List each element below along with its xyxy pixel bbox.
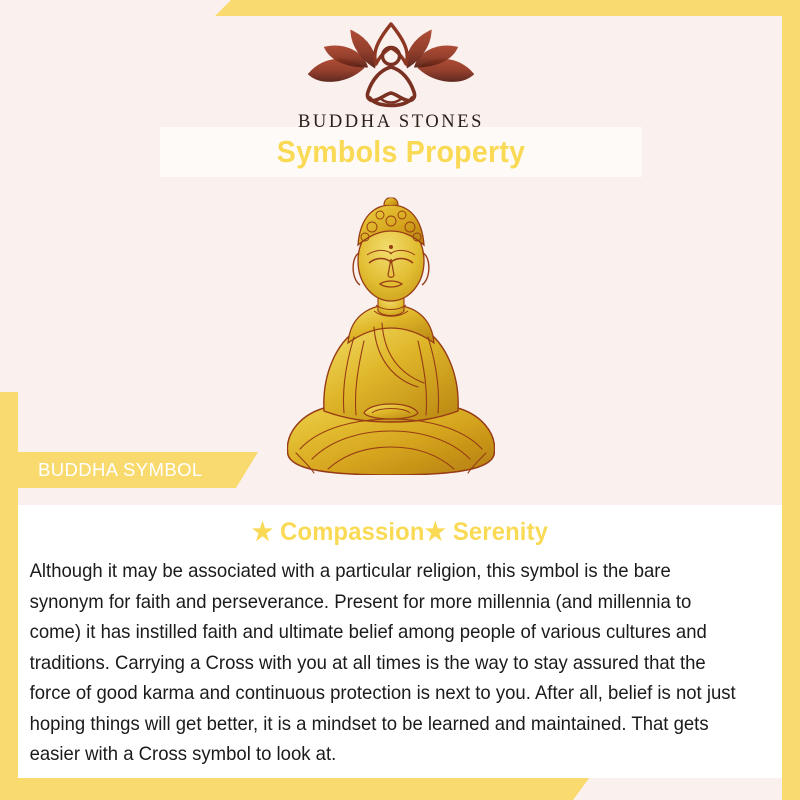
brand-header: BUDDHA STONES bbox=[0, 18, 782, 133]
lotus-meditation-icon bbox=[0, 18, 782, 110]
buddha-symbol-ribbon: BUDDHA SYMBOL bbox=[18, 452, 258, 488]
content-subtitle: ★ Compassion★ Serenity bbox=[37, 505, 763, 547]
content-paragraph: Although it may be associated with a par… bbox=[18, 547, 755, 771]
ribbon-label: BUDDHA SYMBOL bbox=[38, 459, 203, 481]
page-title: Symbols Property bbox=[277, 134, 526, 170]
hero-image bbox=[0, 182, 782, 487]
page-root: BUDDHA STONES Symbols Property bbox=[0, 0, 800, 800]
frame-right-bar bbox=[782, 0, 800, 800]
frame-top-bar bbox=[215, 0, 800, 16]
content-panel: ★ Compassion★ Serenity Although it may b… bbox=[18, 505, 782, 778]
seated-golden-buddha-statue-icon bbox=[266, 187, 516, 487]
title-banner: Symbols Property bbox=[160, 127, 642, 177]
